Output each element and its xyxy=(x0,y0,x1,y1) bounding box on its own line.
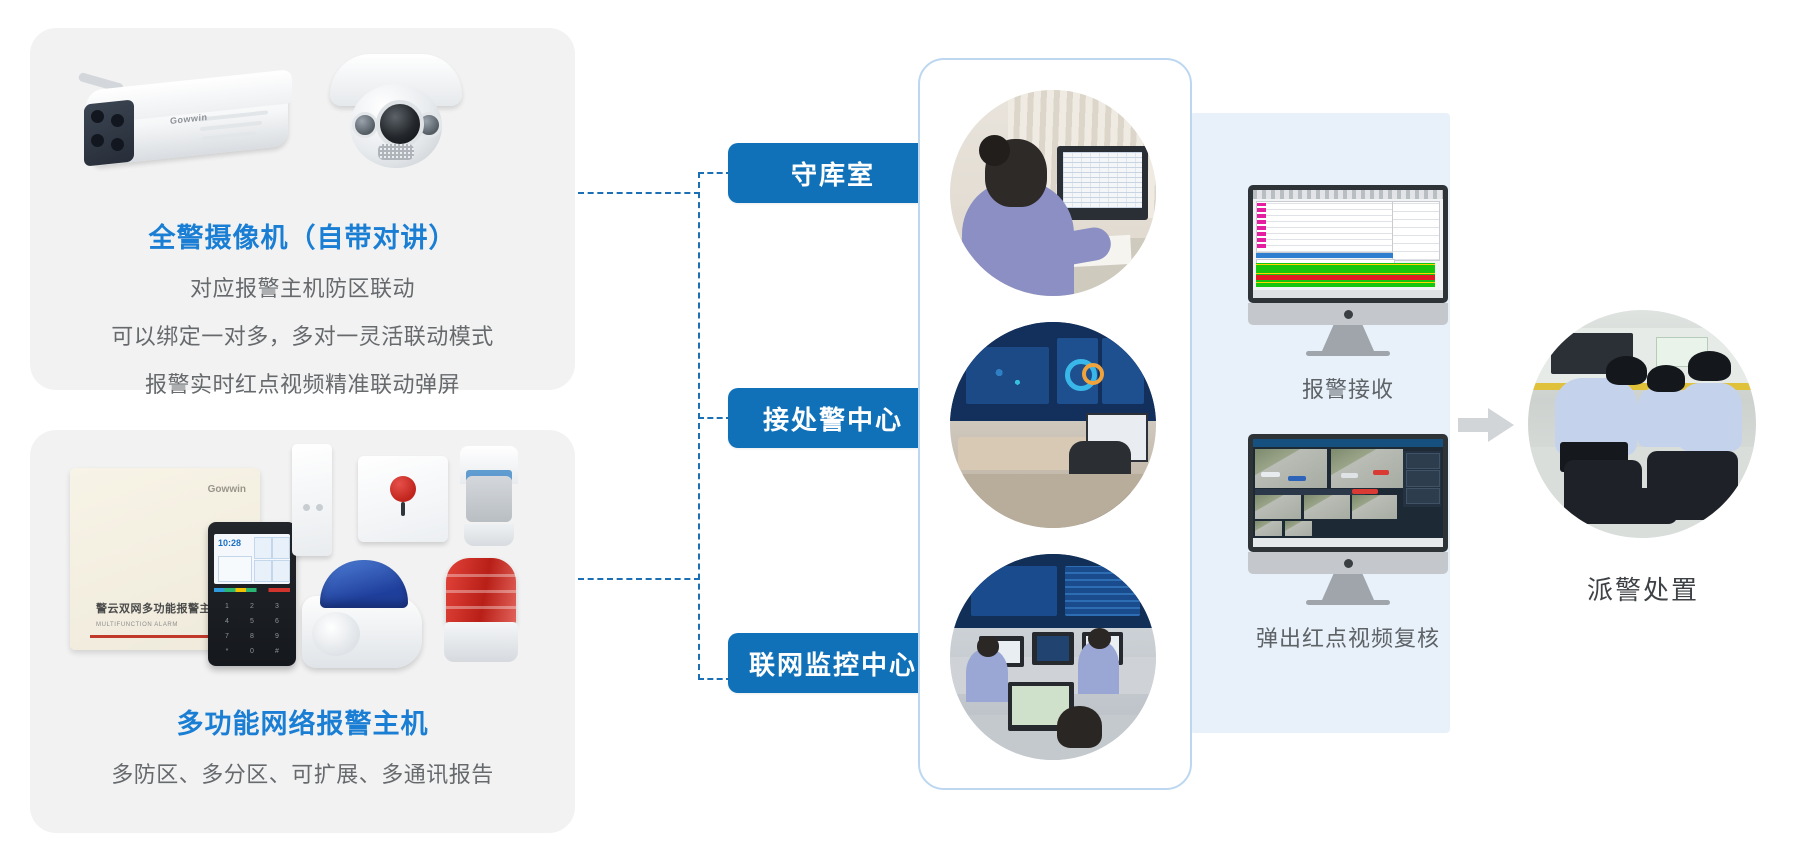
monitor-power-dot xyxy=(1344,559,1353,568)
photo-police-response xyxy=(1528,310,1756,538)
alarm-host-product-images: Gowwin 警云双网多功能报警主机 MULTIFUNCTION ALARM 1… xyxy=(30,430,575,688)
monitor-power-dot xyxy=(1344,310,1353,319)
bullet-camera-icon: Gowwin xyxy=(78,62,308,177)
connector-line xyxy=(698,172,700,680)
product-card-camera: Gowwin 全警摄像机（自带对讲） 对应报警主机防区联动 可以绑定一对多，多对… xyxy=(30,28,575,390)
node-button-guard-room[interactable]: 守库室 xyxy=(728,143,938,203)
connector-line xyxy=(578,192,700,194)
monitor-caption-video-review: 弹出红点视频复核 xyxy=(1248,621,1448,653)
camera-product-images: Gowwin xyxy=(30,28,575,208)
result-caption: 派警处置 xyxy=(1498,570,1788,607)
siren-horn-icon xyxy=(298,556,428,672)
card-desc-line: 多防区、多分区、可扩展、多通讯报告 xyxy=(30,757,575,789)
keypad-icon: 10:28 123 456 789 *0# xyxy=(208,522,296,666)
node-label: 联网监控中心 xyxy=(749,645,917,682)
strobe-light-icon xyxy=(442,558,520,676)
photo-dispatch-center xyxy=(950,322,1156,528)
pir-motion-detector-icon xyxy=(460,446,518,554)
keypad-clock: 10:28 xyxy=(218,538,241,548)
product-card-alarm-host: Gowwin 警云双网多功能报警主机 MULTIFUNCTION ALARM 1… xyxy=(30,430,575,833)
panic-button-icon xyxy=(358,456,448,542)
card-title-alarm-host: 多功能网络报警主机 xyxy=(30,702,575,741)
node-button-network-monitoring-center[interactable]: 联网监控中心 xyxy=(728,633,938,693)
card-desc-line: 对应报警主机防区联动 xyxy=(30,271,575,303)
connector-line xyxy=(578,578,700,580)
node-button-dispatch-center[interactable]: 接处警中心 xyxy=(728,388,938,448)
photo-monitoring-center xyxy=(950,554,1156,760)
node-label: 守库室 xyxy=(791,155,875,192)
host-label-cn: 警云双网多功能报警主机 xyxy=(96,600,223,616)
monitor-caption-alarm-receive: 报警接收 xyxy=(1248,372,1448,404)
card-desc-line: 可以绑定一对多，多对一灵活联动模式 xyxy=(30,319,575,351)
right-arrow-icon xyxy=(1458,408,1514,442)
card-title-camera: 全警摄像机（自带对讲） xyxy=(30,216,575,255)
monitor-alarm-receive: 报警接收 xyxy=(1248,185,1448,404)
dome-camera-icon xyxy=(330,50,462,178)
monitor-video-review: 弹出红点视频复核 xyxy=(1248,434,1448,653)
node-label: 接处警中心 xyxy=(763,400,903,437)
diagram-canvas: Gowwin 全警摄像机（自带对讲） 对应报警主机防区联动 可以绑定一对多，多对… xyxy=(0,0,1801,862)
card-desc-line: 报警实时红点视频精准联动弹屏 xyxy=(30,367,575,399)
host-label-en: MULTIFUNCTION ALARM xyxy=(96,622,178,628)
door-contact-sensor-icon xyxy=(292,444,332,556)
photo-guard-room xyxy=(950,90,1156,296)
